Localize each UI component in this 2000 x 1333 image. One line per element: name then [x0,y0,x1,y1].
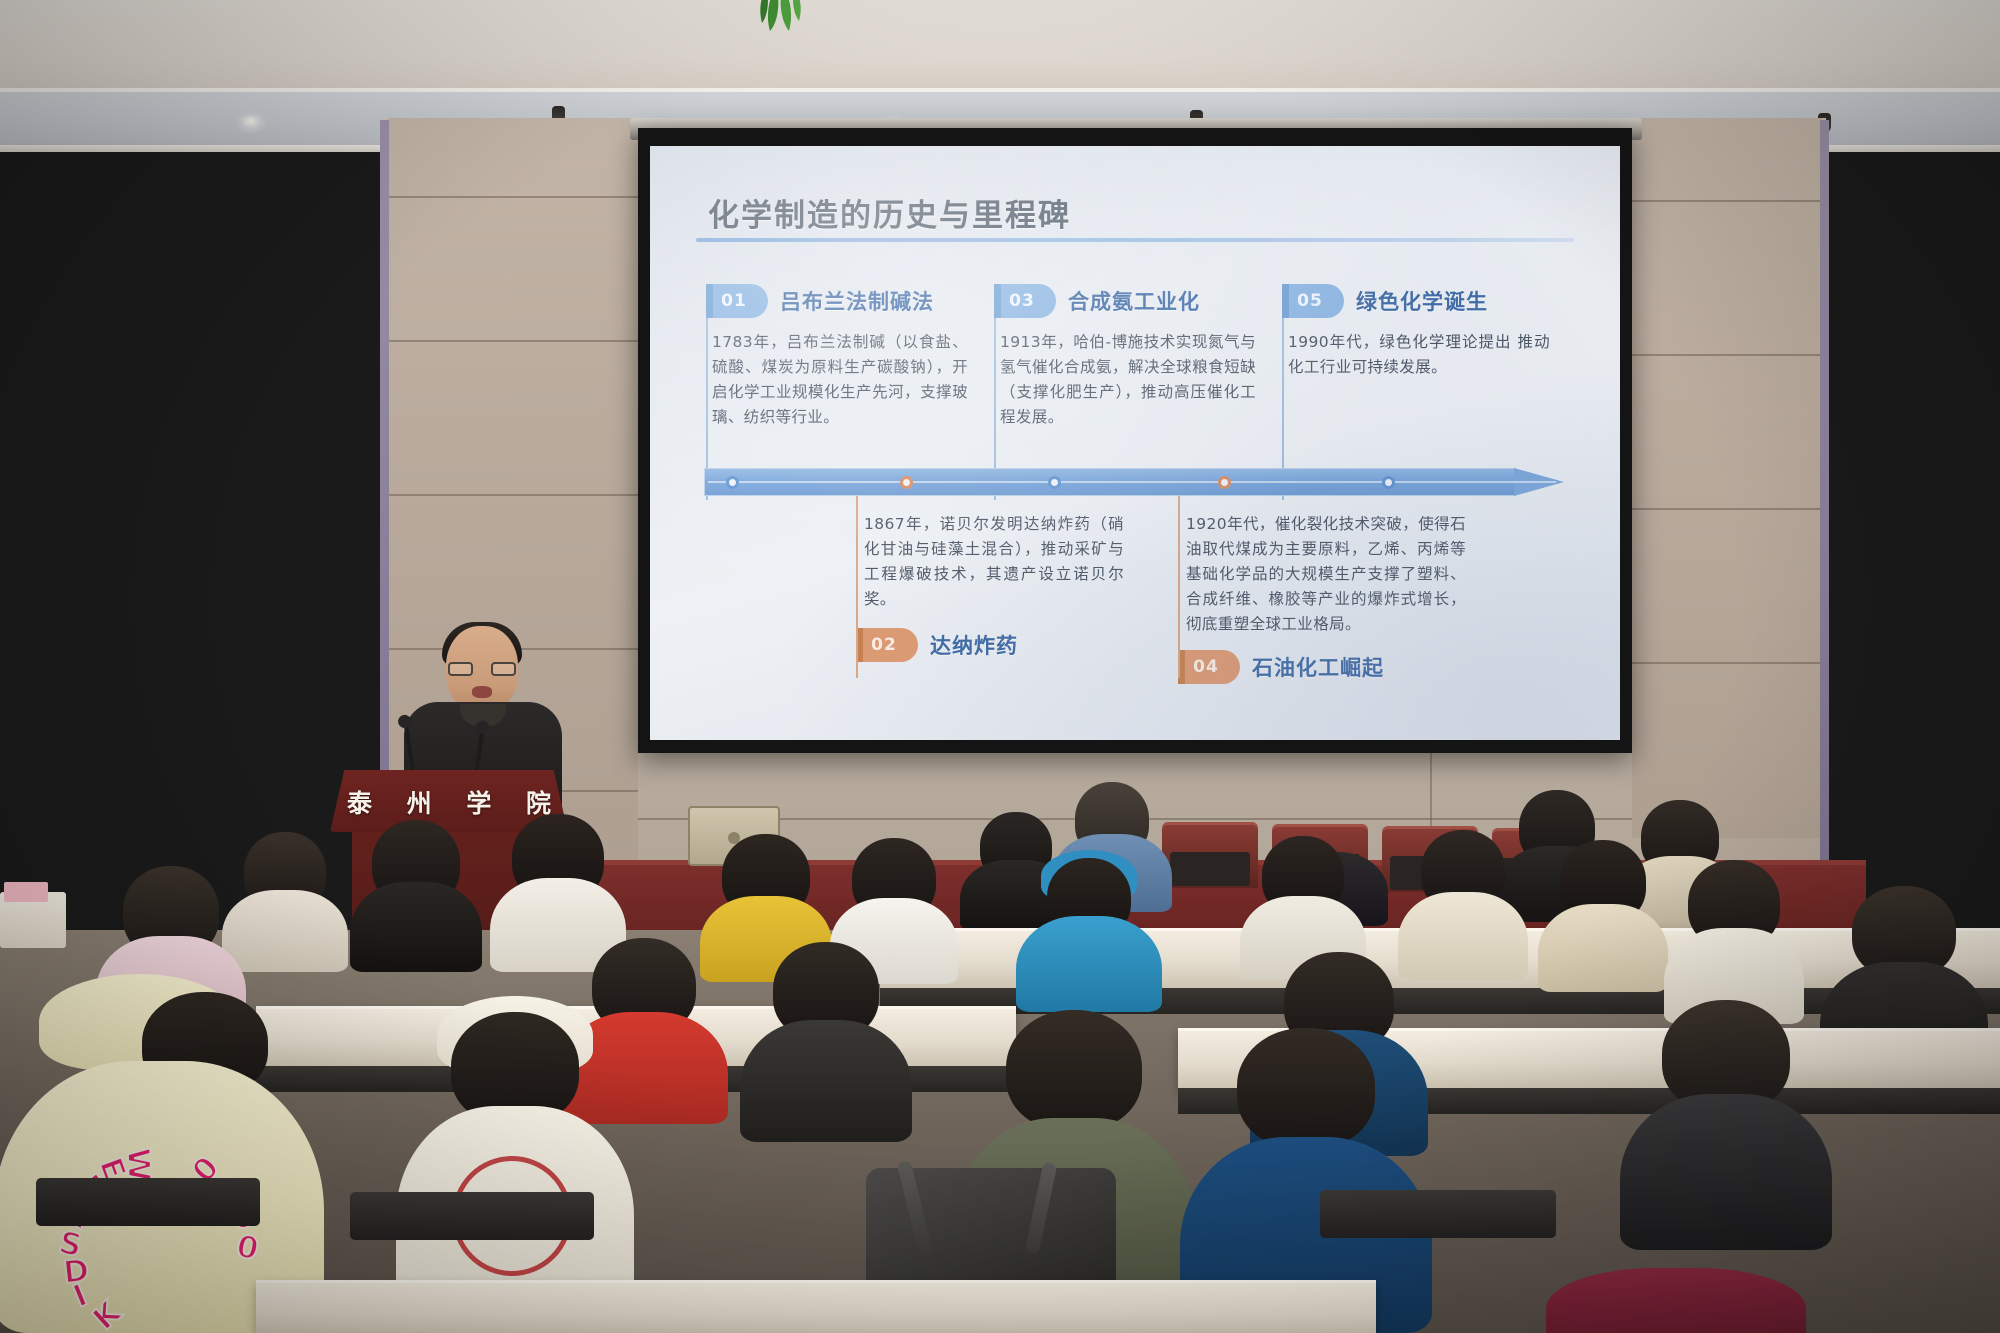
slide-title: 化学制造的历史与里程碑 [708,190,1071,235]
card-title: 达纳炸药 [930,630,1018,660]
wall-trim-strip-left [380,120,389,865]
torso [1546,1268,1806,1333]
milestone-card-04: 1920年代，催化裂化技术突破，使得石油取代煤成为主要原料，乙烯、丙烯等基础化学… [1178,512,1466,684]
projection-screen: 化学制造的历史与里程碑 01 吕布兰法制碱法 1783年，吕布兰法制碱（以食盐、… [650,146,1620,740]
card-number: 02 [871,635,897,655]
card-number: 05 [1297,291,1323,311]
wood-slat-wall-left [0,122,388,862]
timeline-marker-5 [1382,476,1395,489]
torso [1016,916,1162,1012]
card-stem-04 [1178,496,1180,678]
wall-trim-strip-right [1820,120,1829,865]
card-number-badge: 03 [994,284,1056,318]
card-body: 1913年，哈伯-博施技术实现氮气与氢气催化合成氨，解决全球粮食短缺（支撑化肥生… [994,330,1256,430]
audience-member [1546,1262,1806,1333]
milestone-card-05: 05 绿色化学诞生 1990年代，绿色化学理论提出 推动化工行业可持续发展。 [1282,284,1550,380]
audience-member [1620,1000,1832,1250]
card-number-badge: 04 [1178,650,1240,684]
audience-member [1538,840,1668,992]
flag-pole [706,284,713,318]
torso [350,882,482,972]
torso [1620,1094,1832,1250]
lecture-hall-scene: 化学制造的历史与里程碑 01 吕布兰法制碱法 1783年，吕布兰法制碱（以食盐、… [0,0,2000,1333]
flag-pole [1282,284,1289,318]
speaker-mouth [472,686,492,698]
timeline-marker-1 [726,476,739,489]
card-number-badge: 02 [856,628,918,662]
seat-back [36,1178,260,1226]
head [1006,1010,1142,1130]
seat-back [350,1192,594,1240]
card-body: 1920年代，催化裂化技术突破，使得石油取代煤成为主要原料，乙烯、丙烯等基础化学… [1178,512,1466,638]
milestone-card-01: 01 吕布兰法制碱法 1783年，吕布兰法制碱（以食盐、硫酸、煤炭为原料生产碳酸… [706,284,968,430]
card-title: 绿色化学诞生 [1356,286,1488,316]
timeline-marker-3 [1048,476,1061,489]
hoodie-graphic: K I D S A F E W 0 0 0 0 [61,1147,257,1333]
card-number: 03 [1009,291,1035,311]
head [1237,1028,1375,1148]
card-header: 05 绿色化学诞生 [1282,284,1550,318]
card-number: 04 [1193,657,1219,677]
glasses-icon [448,662,516,676]
flag-pole [994,284,1001,318]
pink-note-card [4,882,48,902]
title-divider [696,238,1574,242]
audience-member [740,942,912,1142]
torso [740,1020,912,1142]
card-number: 01 [721,291,747,311]
card-header: 01 吕布兰法制碱法 [706,284,968,318]
audience-member [1016,856,1162,1012]
card-title: 石油化工崛起 [1252,652,1384,682]
timeline-centerline [708,481,1556,483]
card-header: 02 达纳炸药 [856,628,1124,662]
card-body: 1867年，诺贝尔发明达纳炸药（硝化甘油与硅藻土混合），推动采矿与工程爆破技术，… [856,512,1124,612]
plant-leaves-icon [744,0,818,32]
card-number-badge: 01 [706,284,768,318]
milestone-card-02: 1867年，诺贝尔发明达纳炸药（硝化甘油与硅藻土混合），推动采矿与工程爆破技术，… [856,512,1124,662]
seat-back [1320,1190,1556,1238]
card-body: 1990年代，绿色化学理论提出 推动化工行业可持续发展。 [1282,330,1550,380]
card-header: 04 石油化工崛起 [1178,650,1466,684]
card-body: 1783年，吕布兰法制碱（以食盐、硫酸、煤炭为原料生产碳酸钠），开启化学工业规模… [706,330,968,430]
timeline-marker-2 [900,476,913,489]
card-title: 吕布兰法制碱法 [780,286,934,316]
ceiling [0,0,2000,92]
card-stem-02 [856,496,858,678]
timeline-marker-4 [1218,476,1231,489]
desk-row [256,1280,1376,1333]
card-title: 合成氨工业化 [1068,286,1200,316]
audience-member [396,1006,634,1306]
timeline-arrow [704,468,1566,496]
card-number-badge: 05 [1282,284,1344,318]
wall-panel-column-right [1632,118,1822,838]
milestone-card-03: 03 合成氨工业化 1913年，哈伯-博施技术实现氮气与氢气催化合成氨，解决全球… [994,284,1256,430]
hoodie-logo-text: W [120,1147,157,1182]
torso [1538,904,1668,992]
card-header: 03 合成氨工业化 [994,284,1256,318]
wood-slat-wall-right [1824,126,2000,816]
audience-member [350,820,482,972]
presentation-slide: 化学制造的历史与里程碑 01 吕布兰法制碱法 1783年，吕布兰法制碱（以食盐、… [650,146,1620,740]
